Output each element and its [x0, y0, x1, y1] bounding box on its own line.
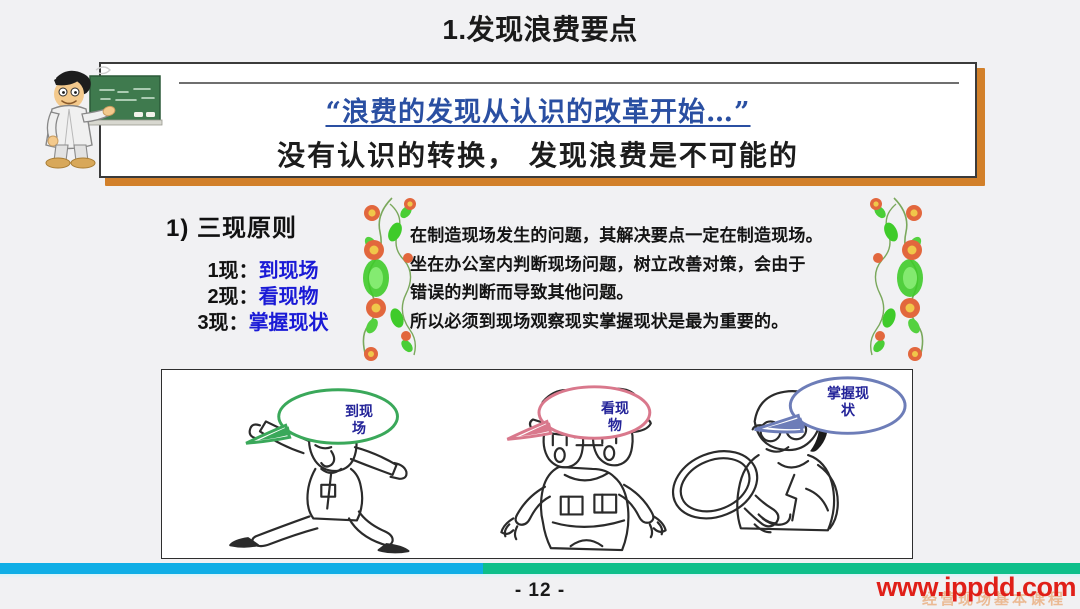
bubble-line-1: 看现 — [601, 400, 629, 416]
footer-bar-blue — [0, 563, 483, 574]
principle-value: 看现物 — [259, 286, 319, 308]
bubble-line-1: 到现 — [345, 403, 373, 419]
paragraph-line: 错误的判断而导致其他问题。 — [410, 279, 880, 308]
quote-line-secondary: 没有认识的转换， 发现浪费是不可能的 — [101, 134, 975, 174]
bubble-line-2: 状 — [841, 402, 855, 418]
principle-value: 到现场 — [259, 260, 319, 282]
principle-heading: 1) 三现原则 — [166, 208, 297, 243]
principle-value: 掌握现状 — [249, 312, 329, 334]
principle-row: 3现：掌握现状 — [168, 310, 358, 336]
page-title: 1.发现浪费要点 — [0, 8, 1080, 48]
bubble-line-1: 掌握现 — [827, 385, 869, 401]
principle-list: 1现：到现场 2现：看现物 3现：掌握现状 — [168, 258, 358, 336]
principle-key: 3现： — [197, 312, 248, 334]
principle-row: 2现：看现物 — [168, 284, 358, 310]
illustration-panel — [161, 369, 913, 559]
speech-bubble-go-to-site-label: 到现 场 — [331, 403, 387, 437]
quote-divider-rule — [179, 82, 959, 84]
watermark-url: www.ippdd.com — [877, 572, 1077, 603]
principle-key: 1现： — [207, 260, 258, 282]
quote-line-primary: “浪费的发现从认识的改革开始…” — [101, 90, 975, 129]
body-paragraph: 在制造现场发生的问题，其解决要点一定在制造现场。 坐在办公室内判断现场问题，树立… — [410, 222, 880, 336]
principle-row: 1现：到现场 — [168, 258, 358, 284]
speech-bubble-grasp-situation-label: 掌握现 状 — [820, 385, 876, 419]
quote-box: “浪费的发现从认识的改革开始…” 没有认识的转换， 发现浪费是不可能的 — [99, 62, 977, 178]
teacher-blackboard-icon — [38, 62, 163, 182]
bubble-line-2: 场 — [352, 420, 366, 436]
paragraph-line: 所以必须到现场观察现实掌握现状是最为重要的。 — [410, 308, 880, 337]
speech-bubble-see-the-object-label: 看现 物 — [587, 400, 643, 434]
bubble-line-2: 物 — [608, 417, 622, 433]
paragraph-line: 坐在办公室内判断现场问题，树立改善对策，会由于 — [410, 251, 880, 280]
paragraph-line: 在制造现场发生的问题，其解决要点一定在制造现场。 — [410, 222, 880, 251]
principle-key: 2现： — [207, 286, 258, 308]
